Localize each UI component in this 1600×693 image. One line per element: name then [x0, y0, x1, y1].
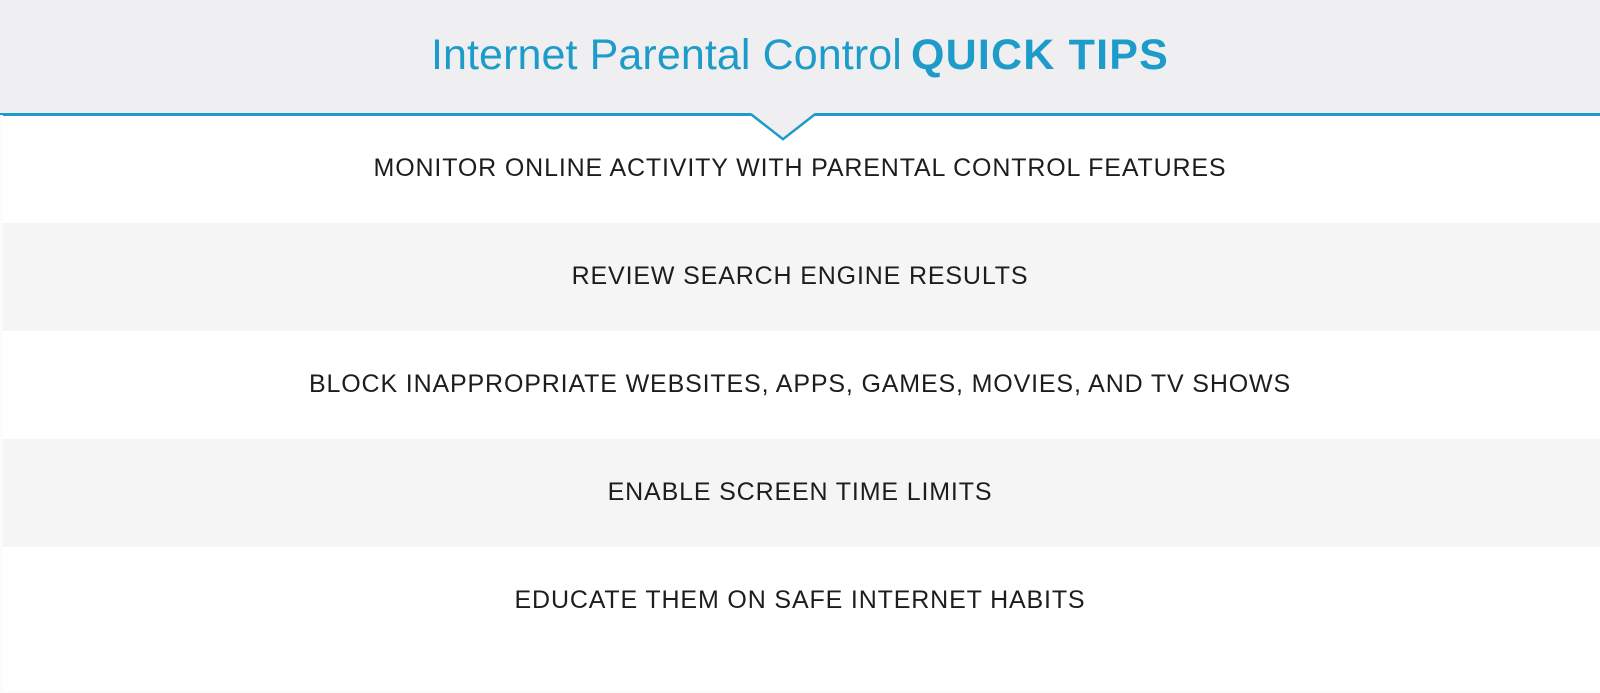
- page-title-bold: QUICK TIPS: [911, 31, 1169, 79]
- tips-list: Monitor online activity with parental co…: [0, 115, 1600, 693]
- tip-text: Monitor online activity with parental co…: [374, 155, 1227, 183]
- header-divider-rule: [0, 113, 1600, 116]
- header-banner: Internet Parental ControlQUICK TIPS: [0, 0, 1600, 115]
- list-item: Monitor online activity with parental co…: [0, 115, 1600, 223]
- list-item: Review search engine results: [0, 223, 1600, 331]
- tip-text: Enable screen time limits: [608, 479, 993, 507]
- quick-tips-infographic: Internet Parental ControlQUICK TIPS Moni…: [0, 0, 1600, 693]
- page-title: Internet Parental ControlQUICK TIPS: [431, 34, 1169, 77]
- list-item: Block inappropriate websites, apps, game…: [0, 331, 1600, 439]
- list-item: Educate them on safe internet habits: [0, 547, 1600, 655]
- tip-text: Review search engine results: [572, 263, 1029, 291]
- page-title-light: Internet Parental Control: [431, 31, 902, 79]
- page-edge-left: [0, 115, 3, 693]
- tip-text: Block inappropriate websites, apps, game…: [309, 371, 1291, 399]
- tip-text: Educate them on safe internet habits: [515, 587, 1086, 615]
- list-item: Enable screen time limits: [0, 439, 1600, 547]
